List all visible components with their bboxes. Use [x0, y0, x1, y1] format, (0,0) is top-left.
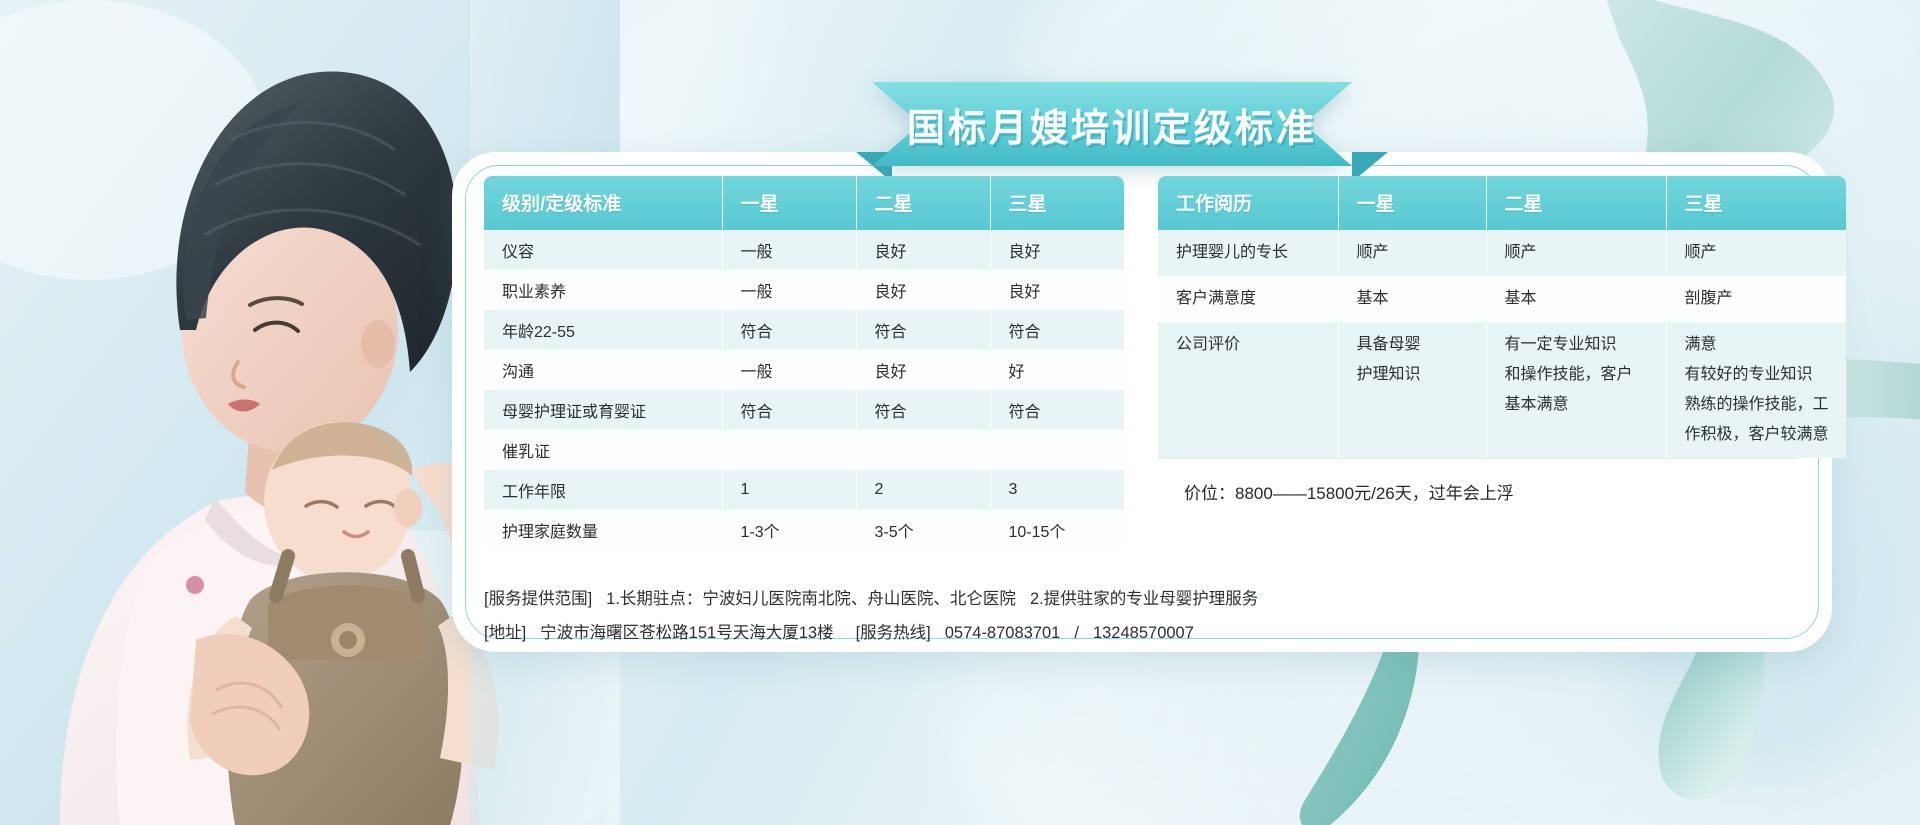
service-scope-item1: 1.长期驻点：宁波妇儿医院南北院、舟山医院、北仑医院: [606, 590, 1016, 608]
service-scope-label: [服务提供范围]: [484, 590, 592, 608]
cell-three-star: 剖腹产: [1666, 276, 1846, 322]
cell-two-star: 3-5个: [856, 510, 990, 550]
footer-line-service-scope: [服务提供范围]1.长期驻点：宁波妇儿医院南北院、舟山医院、北仑医院2.提供驻家…: [484, 582, 1784, 616]
cell-three-star: 符合: [990, 390, 1124, 430]
cell-three-star: 好: [990, 350, 1124, 390]
cell-one-star: 符合: [722, 390, 856, 430]
service-scope-item2: 2.提供驻家的专业母婴护理服务: [1030, 590, 1258, 608]
cell-line: 基本满意: [1505, 390, 1666, 420]
right-table-wrap: 工作阅历 一星 二星 三星 护理婴儿的专长 顺产 顺产 顺产 客户满意度: [1158, 176, 1846, 550]
col-header-two-star: 二星: [1486, 176, 1666, 230]
col-header-three-star: 三星: [1666, 176, 1846, 230]
cell-line: 顺产: [1357, 238, 1486, 268]
cell-three-star: 良好: [990, 230, 1124, 270]
hotline-label: [服务热线]: [856, 624, 931, 642]
cell-two-star: 良好: [856, 350, 990, 390]
table-header-row: 工作阅历 一星 二星 三星: [1158, 176, 1846, 230]
cell-line: 有一定专业知识: [1505, 330, 1666, 360]
cell-three-star: [990, 430, 1124, 470]
hotline-phone-2: 13248570007: [1093, 624, 1194, 642]
table-header-row: 级别/定级标准 一星 二星 三星: [484, 176, 1124, 230]
address-label: [地址]: [484, 624, 526, 642]
footer-info: [服务提供范围]1.长期驻点：宁波妇儿医院南北院、舟山医院、北仑医院2.提供驻家…: [484, 582, 1784, 650]
row-label: 母婴护理证或育婴证: [484, 390, 722, 430]
title-ribbon: 国标月嫂培训定级标准: [872, 82, 1352, 166]
work-experience-table: 工作阅历 一星 二星 三星 护理婴儿的专长 顺产 顺产 顺产 客户满意度: [1158, 176, 1846, 458]
price-note: 价位：8800——15800元/26天，过年会上浮: [1158, 458, 1798, 530]
cell-line: 有较好的专业知识: [1685, 360, 1847, 390]
cell-one-star: 符合: [722, 310, 856, 350]
cell-two-star: 有一定专业知识 和操作技能，客户 基本满意: [1486, 322, 1666, 458]
row-label: 护理家庭数量: [484, 510, 722, 550]
footer-line-address-hotline: [地址]宁波市海曙区苍松路151号天海大厦13楼[服务热线]0574-87083…: [484, 616, 1784, 650]
cell-two-star: 基本: [1486, 276, 1666, 322]
hotline-phone-1: 0574-87083701: [945, 624, 1061, 642]
cell-one-star: 1-3个: [722, 510, 856, 550]
table-row: 客户满意度 基本 基本 剖腹产: [1158, 276, 1846, 322]
table-row: 职业素养 一般 良好 良好: [484, 270, 1124, 310]
table-row: 母婴护理证或育婴证 符合 符合 符合: [484, 390, 1124, 430]
col-header-three-star: 三星: [990, 176, 1124, 230]
col-header-one-star: 一星: [1338, 176, 1486, 230]
table-row: 沟通 一般 良好 好: [484, 350, 1124, 390]
cell-one-star: 顺产: [1338, 230, 1486, 276]
cell-three-star: 良好: [990, 270, 1124, 310]
row-label: 公司评价: [1158, 322, 1338, 458]
cell-one-star: 基本: [1338, 276, 1486, 322]
table-row: 护理家庭数量 1-3个 3-5个 10-15个: [484, 510, 1124, 550]
col-header-criteria: 级别/定级标准: [484, 176, 722, 230]
cell-three-star: 顺产: [1666, 230, 1846, 276]
row-label: 护理婴儿的专长: [1158, 230, 1338, 276]
cell-line: 剖腹产: [1685, 284, 1847, 314]
cell-one-star: 具备母婴 护理知识: [1338, 322, 1486, 458]
cell-one-star: 1: [722, 470, 856, 510]
row-label: 职业素养: [484, 270, 722, 310]
cell-line: 顺产: [1505, 238, 1666, 268]
tables-region: 级别/定级标准 一星 二星 三星 仪容 一般 良好 良好 职业素养: [484, 176, 1804, 550]
cell-one-star: 一般: [722, 230, 856, 270]
cell-line: 作积极，客户较满意: [1685, 420, 1847, 450]
page-title: 国标月嫂培训定级标准: [872, 82, 1352, 166]
cell-line: 护理知识: [1357, 360, 1486, 390]
cell-two-star: 良好: [856, 270, 990, 310]
cell-two-star: 顺产: [1486, 230, 1666, 276]
row-label: 工作年限: [484, 470, 722, 510]
cell-one-star: [722, 430, 856, 470]
cell-line: 和操作技能，客户: [1505, 360, 1666, 390]
table-row: 年龄22-55 符合 符合 符合: [484, 310, 1124, 350]
table-row: 护理婴儿的专长 顺产 顺产 顺产: [1158, 230, 1846, 276]
cell-two-star: 符合: [856, 390, 990, 430]
address-value: 宁波市海曙区苍松路151号天海大厦13楼: [540, 624, 833, 642]
cell-two-star: 符合: [856, 310, 990, 350]
row-label: 年龄22-55: [484, 310, 722, 350]
cell-line: 具备母婴: [1357, 330, 1486, 360]
cell-line: 顺产: [1685, 238, 1847, 268]
cell-one-star: 一般: [722, 270, 856, 310]
cell-three-star: 符合: [990, 310, 1124, 350]
cell-three-star: 满意 有较好的专业知识 熟练的操作技能，工 作积极，客户较满意: [1666, 322, 1846, 458]
grading-standard-table: 级别/定级标准 一星 二星 三星 仪容 一般 良好 良好 职业素养: [484, 176, 1124, 550]
cell-two-star: 良好: [856, 230, 990, 270]
cell-line: 基本: [1505, 284, 1666, 314]
cell-line: 熟练的操作技能，工: [1685, 390, 1847, 420]
row-label: 催乳证: [484, 430, 722, 470]
cell-two-star: 2: [856, 470, 990, 510]
col-header-two-star: 二星: [856, 176, 990, 230]
cell-one-star: 一般: [722, 350, 856, 390]
row-label: 客户满意度: [1158, 276, 1338, 322]
cell-line: 满意: [1685, 330, 1847, 360]
hotline-separator: /: [1074, 624, 1079, 642]
cell-line: 基本: [1357, 284, 1486, 314]
col-header-one-star: 一星: [722, 176, 856, 230]
row-label: 仪容: [484, 230, 722, 270]
table-row: 公司评价 具备母婴 护理知识 有一定专业知识 和操作技能，客户 基本满意 满意: [1158, 322, 1846, 458]
cell-two-star: [856, 430, 990, 470]
cell-three-star: 3: [990, 470, 1124, 510]
row-label: 沟通: [484, 350, 722, 390]
poster-canvas: 国标月嫂培训定级标准 级别/定级标准 一星 二星 三星 仪容: [0, 0, 1920, 825]
left-table-wrap: 级别/定级标准 一星 二星 三星 仪容 一般 良好 良好 职业素养: [484, 176, 1124, 550]
table-row: 仪容 一般 良好 良好: [484, 230, 1124, 270]
table-row: 催乳证: [484, 430, 1124, 470]
col-header-experience: 工作阅历: [1158, 176, 1338, 230]
table-row: 工作年限 1 2 3: [484, 470, 1124, 510]
cell-three-star: 10-15个: [990, 510, 1124, 550]
